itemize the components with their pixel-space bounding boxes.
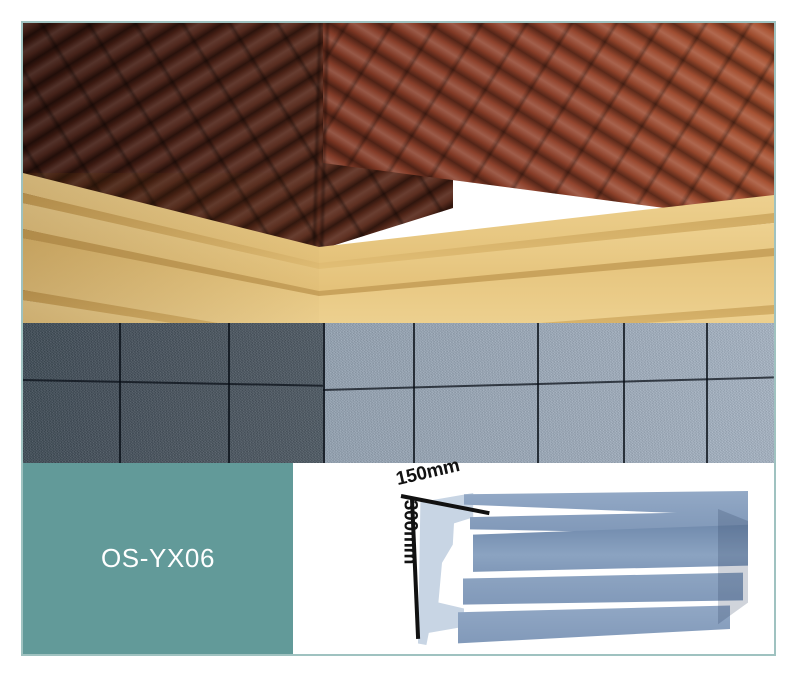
wall-tiles <box>23 323 774 463</box>
bottom-row: OS-YX06 <box>23 463 774 654</box>
dimension-label-height: 300mm <box>398 500 420 565</box>
wall-face-left <box>23 323 323 463</box>
wall-grout-line <box>623 323 625 463</box>
product-code-label: OS-YX06 <box>101 543 215 574</box>
product-photo <box>23 23 774 463</box>
wall-grout-line <box>413 323 415 463</box>
product-code-panel: OS-YX06 <box>23 463 293 654</box>
wall-grout-line <box>228 323 230 463</box>
wall-face-right <box>323 323 774 463</box>
technical-drawing-panel: 150mm 300mm <box>293 463 774 654</box>
product-image-card: OS-YX06 <box>0 0 800 687</box>
wall-grout-line <box>537 323 539 463</box>
wall-grout-line <box>323 323 325 463</box>
wall-grout-line <box>706 323 708 463</box>
wall-texture-left <box>23 323 323 463</box>
molding-band-3 <box>458 603 730 645</box>
molding-right-end-shading <box>718 509 748 629</box>
image-frame-border: OS-YX06 <box>21 21 776 656</box>
molding-profile-drawing <box>418 491 748 646</box>
wall-grout-line <box>119 323 121 463</box>
